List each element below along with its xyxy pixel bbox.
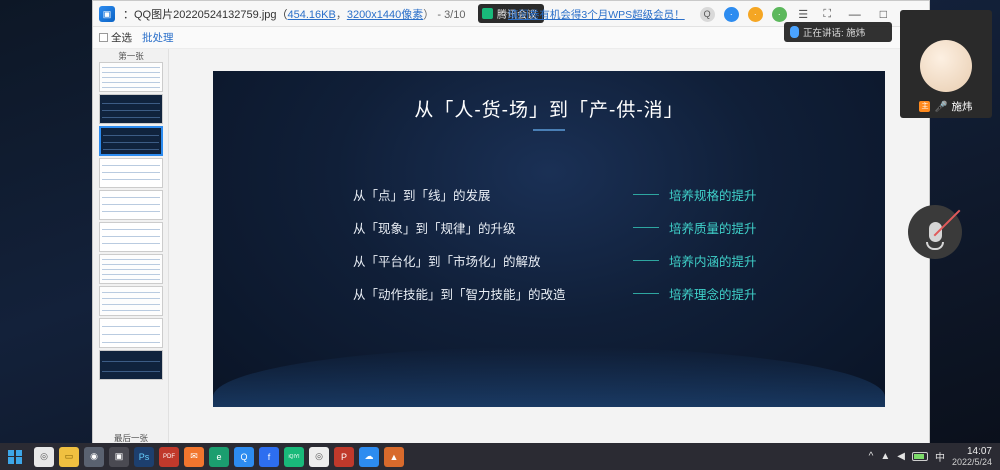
file-sep: ， [336,9,347,21]
thumbnail-item-selected[interactable] [99,126,163,156]
slide-row-dash-icon [633,260,659,262]
thumbnail-item[interactable] [99,318,163,348]
slide-row-right: 培养内涵的提升 [669,251,757,270]
screen: ▣ ：QQ图片20220524132759.jpg（454.16KB，3200x… [0,0,1000,470]
tray-expand-icon[interactable]: ^ [869,451,874,462]
folder-icon[interactable]: ▭ [59,447,79,467]
foxmail-icon[interactable]: ✉ [184,447,204,467]
expand-icon[interactable]: ⛶ [820,7,835,22]
thumbnail-panel: 第一张 最后一张 [93,49,169,446]
mic-mute-button[interactable] [908,205,962,259]
powerpoint-icon[interactable]: P [334,447,354,467]
clock-time: 14:07 [967,446,992,457]
slide-row-left: 从「平台化」到「市场化」的解放 [353,251,633,270]
slide-title: 从「人-货-场」到「产-供-消」 [213,95,885,122]
thumbnail-item[interactable] [99,158,163,188]
windows-start-icon[interactable] [0,443,30,470]
participant-name-row: 主 🎤 施炜 [900,99,992,114]
slide-row-left: 从「现象」到「规律」的升级 [353,218,633,237]
mic-icon [790,26,799,38]
taskbar-apps: ◎ ▭ ◉ ▣ Ps PDF ✉ e Q f iQIYI ◎ P ☁ ▲ [34,447,404,467]
viewer-body: 第一张 最后一张 ✋ 从「人- [93,49,929,446]
file-name-label: ：QQ图片20220524132759.jpg（ [123,9,288,21]
speaking-indicator: 正在讲话: 施炜 [784,22,892,42]
image-viewer-window: ▣ ：QQ图片20220524132759.jpg（454.16KB，3200x… [92,0,930,445]
slide-row: 从「平台化」到「市场化」的解放 培养内涵的提升 [353,244,845,277]
file-dimensions-link[interactable]: 3200x1440像素 [347,9,423,21]
mic-muted-icon [929,222,942,242]
volume-icon[interactable]: ◀ [897,451,905,462]
orange-circle-icon[interactable]: · [748,7,763,22]
app-logo-icon: ▣ [99,6,115,22]
system-tray: ^ ▲ ◀ 中 14:07 2022/5/24 [869,443,1000,470]
page-indicator: - 3/10 [437,9,465,21]
thumbnail-list[interactable] [93,62,168,422]
slide-row-left: 从「动作技能」到「智力技能」的改造 [353,284,633,303]
slide-row-dash-icon [633,194,659,196]
feishu-icon[interactable]: f [259,447,279,467]
promo-link[interactable]: 填问卷有机会得3个月WPS超级会员！ [508,7,685,22]
slide-row-right: 培养质量的提升 [669,218,757,237]
cloud-icon[interactable]: ☁ [359,447,379,467]
thumbnail-item[interactable] [99,62,163,92]
edge-icon[interactable]: e [209,447,229,467]
chrome2-icon[interactable]: ◎ [309,447,329,467]
torch-icon[interactable]: ▲ [384,447,404,467]
photoshop-icon[interactable]: Ps [134,447,154,467]
thumbnail-item[interactable] [99,254,163,284]
iqiyi-icon[interactable]: iQIYI [284,447,304,467]
video-pip[interactable]: 主 🎤 施炜 [900,10,992,118]
host-tag-icon: 主 [919,101,930,112]
slide-row-left: 从「点」到「线」的发展 [353,185,633,204]
file-info: ：QQ图片20220524132759.jpg（454.16KB，3200x14… [123,6,465,22]
slide-rows: 从「点」到「线」的发展 培养规格的提升 从「现象」到「规律」的升级 培养质量的提… [353,178,845,310]
blue-circle-icon[interactable]: · [724,7,739,22]
thumbnail-item[interactable] [99,190,163,220]
select-all-label: 全选 [111,30,132,45]
file-close-paren: ） [423,9,434,21]
wifi-icon[interactable]: ▲ [880,451,890,462]
thumbnail-item[interactable] [99,222,163,252]
thumbnail-item[interactable] [99,286,163,316]
slide-row-right: 培养理念的提升 [669,284,757,303]
speaking-label: 正在讲话: 施炜 [803,25,865,39]
slide-row-dash-icon [633,293,659,295]
ime-icon[interactable]: 中 [935,449,945,464]
green-circle-icon[interactable]: · [772,7,787,22]
mic-muted-icon: 🎤 [934,100,947,113]
maximize-button[interactable]: □ [875,7,892,21]
batch-process-link[interactable]: 批处理 [142,30,174,45]
slide-row-dash-icon [633,227,659,229]
image-canvas[interactable]: ✋ 从「人-货-场」到「产-供-消」 从「点」到「线」的发展 培养规格的提升 从… [169,49,929,446]
hamburger-menu-icon[interactable]: ☰ [796,7,811,22]
clock[interactable]: 14:07 2022/5/24 [952,446,992,468]
qq-icon[interactable]: Q [234,447,254,467]
slide-row: 从「动作技能」到「智力技能」的改造 培养理念的提升 [353,277,845,310]
thumbnail-item[interactable] [99,94,163,124]
slide-image: 从「人-货-场」到「产-供-消」 从「点」到「线」的发展 培养规格的提升 从「现… [213,71,885,407]
file-size-link[interactable]: 454.16KB [288,9,336,21]
slide-divider [533,129,565,131]
first-image-label: 第一张 [93,50,169,62]
participant-name: 施炜 [952,99,973,114]
media-icon[interactable]: ▣ [109,447,129,467]
slide-row-right: 培养规格的提升 [669,185,757,204]
slide-row: 从「点」到「线」的发展 培养规格的提升 [353,178,845,211]
meeting-app-icon [482,8,493,19]
thumbnail-item[interactable] [99,350,163,380]
slide-wave-decoration [213,347,885,407]
minimize-button[interactable]: — [844,7,866,21]
battery-icon[interactable] [912,452,928,461]
clock-date: 2022/5/24 [952,457,992,467]
qq-icon[interactable]: Q [700,7,715,22]
camera-icon[interactable]: ◉ [84,447,104,467]
checkbox-icon [99,33,108,42]
slide-row: 从「现象」到「规律」的升级 培养质量的提升 [353,211,845,244]
chrome-icon[interactable]: ◎ [34,447,54,467]
select-all-checkbox[interactable]: 全选 [99,30,132,45]
avatar [920,40,972,92]
pdf-icon[interactable]: PDF [159,447,179,467]
taskbar: ◎ ▭ ◉ ▣ Ps PDF ✉ e Q f iQIYI ◎ P ☁ ▲ ^ ▲… [0,443,1000,470]
